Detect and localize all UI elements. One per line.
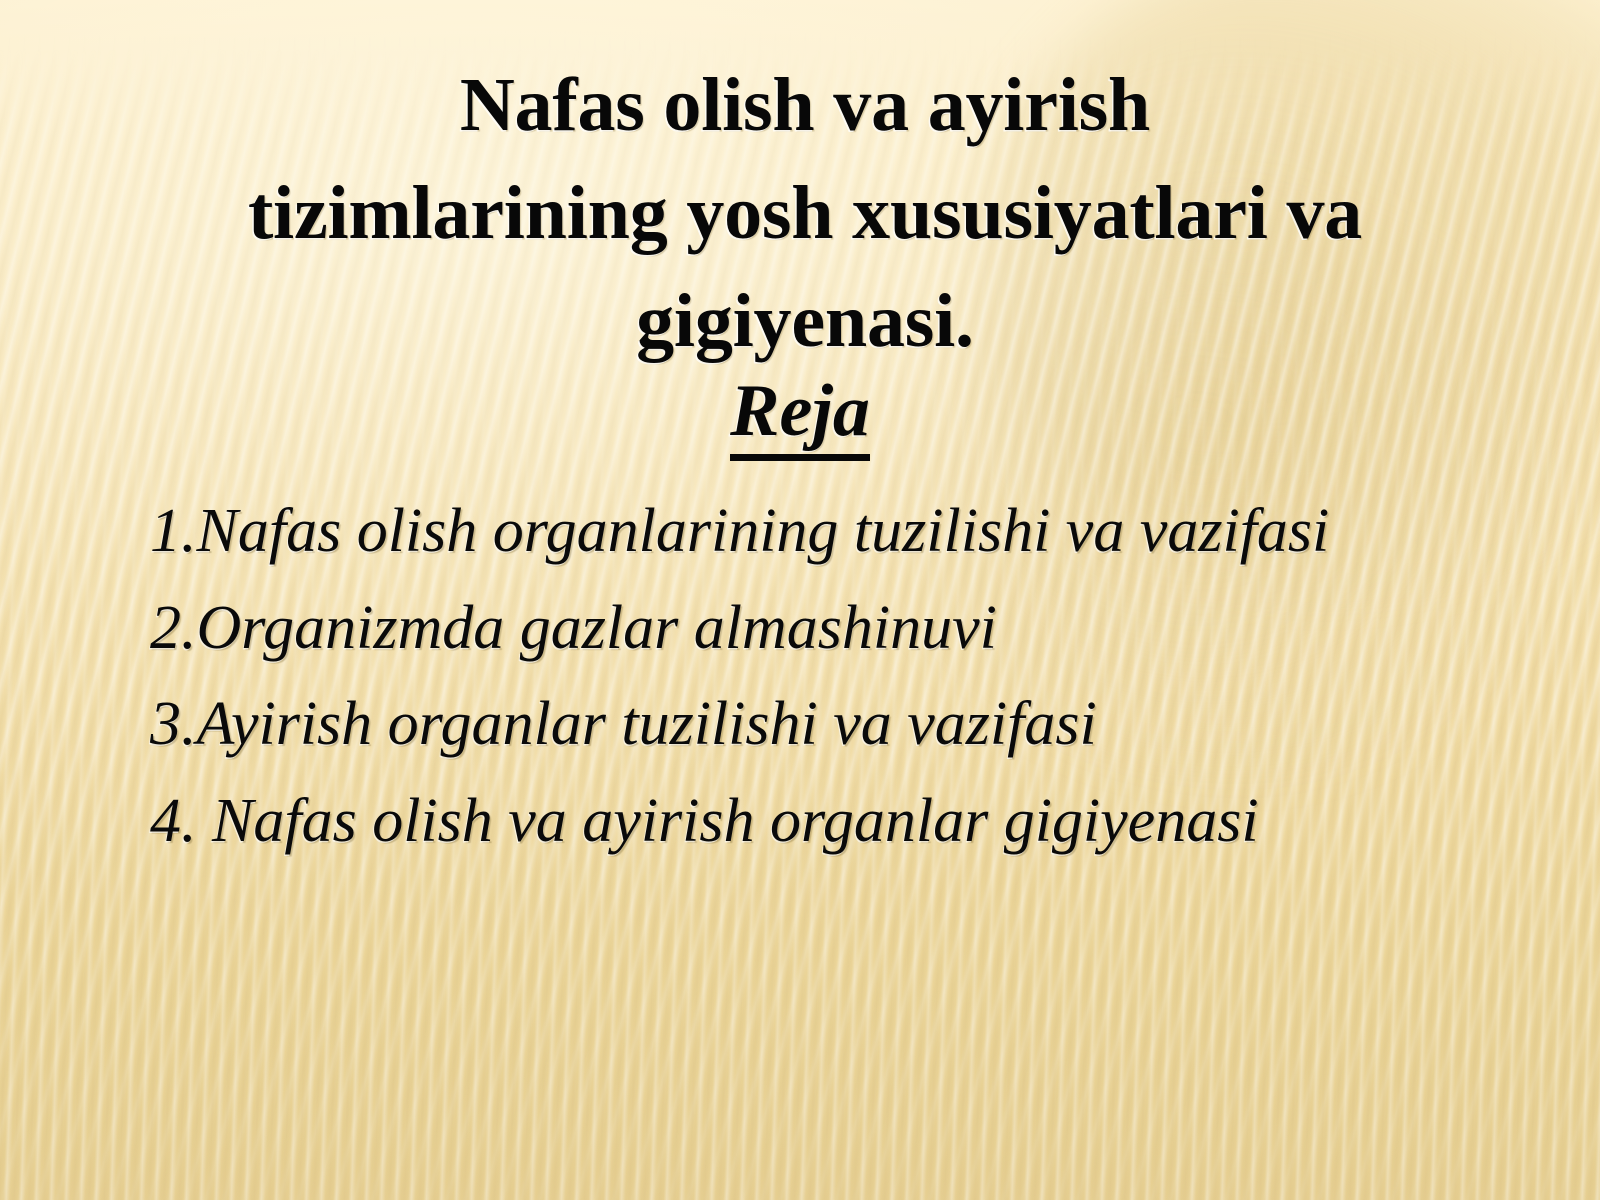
slide-title: Nafas olish va ayirish tizimlarining yos… — [110, 52, 1500, 376]
outline-item: 4. Nafas olish va ayirish organlar gigiy… — [150, 776, 1470, 867]
section-heading-label: Reja — [730, 374, 870, 461]
outline-list: 1.Nafas olish organlarining tuzilishi va… — [150, 486, 1470, 872]
slide-title-line-3: gigiyenasi. — [636, 279, 974, 363]
slide-content: Nafas olish va ayirish tizimlarining yos… — [0, 0, 1600, 1200]
section-heading: Reja — [0, 374, 1600, 461]
outline-item: 1.Nafas olish organlarining tuzilishi va… — [150, 486, 1470, 577]
outline-item: 2.Organizmda gazlar almashinuvi — [150, 583, 1470, 674]
slide-title-line-2: tizimlarining yosh xususiyatlari va — [248, 171, 1362, 255]
outline-item: 3.Ayirish organlar tuzilishi va vazifasi — [150, 679, 1470, 770]
presentation-slide: Nafas olish va ayirish tizimlarining yos… — [0, 0, 1600, 1200]
slide-title-line-1: Nafas olish va ayirish — [460, 63, 1150, 147]
